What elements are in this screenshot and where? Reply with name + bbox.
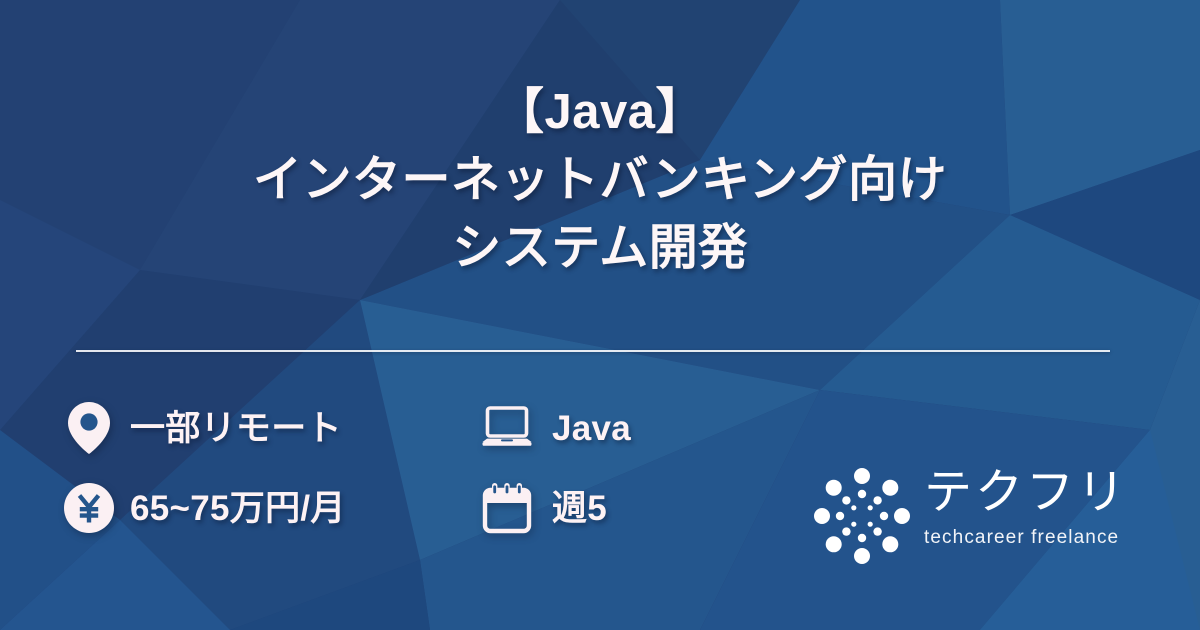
meta-item-workdays: 週5 xyxy=(480,468,631,548)
meta-item-salary-label: 65~75万円/月 xyxy=(130,491,346,526)
logo-wordmark: テクフリ techcareer freelance xyxy=(924,462,1142,550)
meta-item-skill: Java xyxy=(480,388,631,468)
logo-tagline: techcareer freelance xyxy=(924,526,1142,550)
meta-item-salary: 65~75万円/月 xyxy=(62,468,346,548)
page-title: 【Java】 インターネットバンキング向け システム開発 xyxy=(0,78,1200,282)
job-ogp-card: 【Java】 インターネットバンキング向け システム開発 一部リモート xyxy=(0,0,1200,630)
meta-item-workdays-label: 週5 xyxy=(552,491,607,526)
meta-item-skill-label: Java xyxy=(552,411,631,446)
yen-circle-icon xyxy=(62,480,116,536)
meta-column-right: Java xyxy=(480,388,631,548)
divider xyxy=(76,350,1110,352)
meta-item-worksite: 一部リモート xyxy=(62,388,346,468)
meta-item-worksite-label: 一部リモート xyxy=(130,411,342,446)
brand-logo: テクフリ techcareer freelance xyxy=(812,462,1142,568)
logo-word-jp: テクフリ xyxy=(924,462,1142,524)
location-pin-icon xyxy=(62,400,116,456)
laptop-icon xyxy=(480,400,534,456)
calendar-icon xyxy=(480,480,534,536)
meta-column-left: 一部リモート 65~ xyxy=(62,388,346,548)
dot-circle-logo-mark xyxy=(812,466,912,566)
